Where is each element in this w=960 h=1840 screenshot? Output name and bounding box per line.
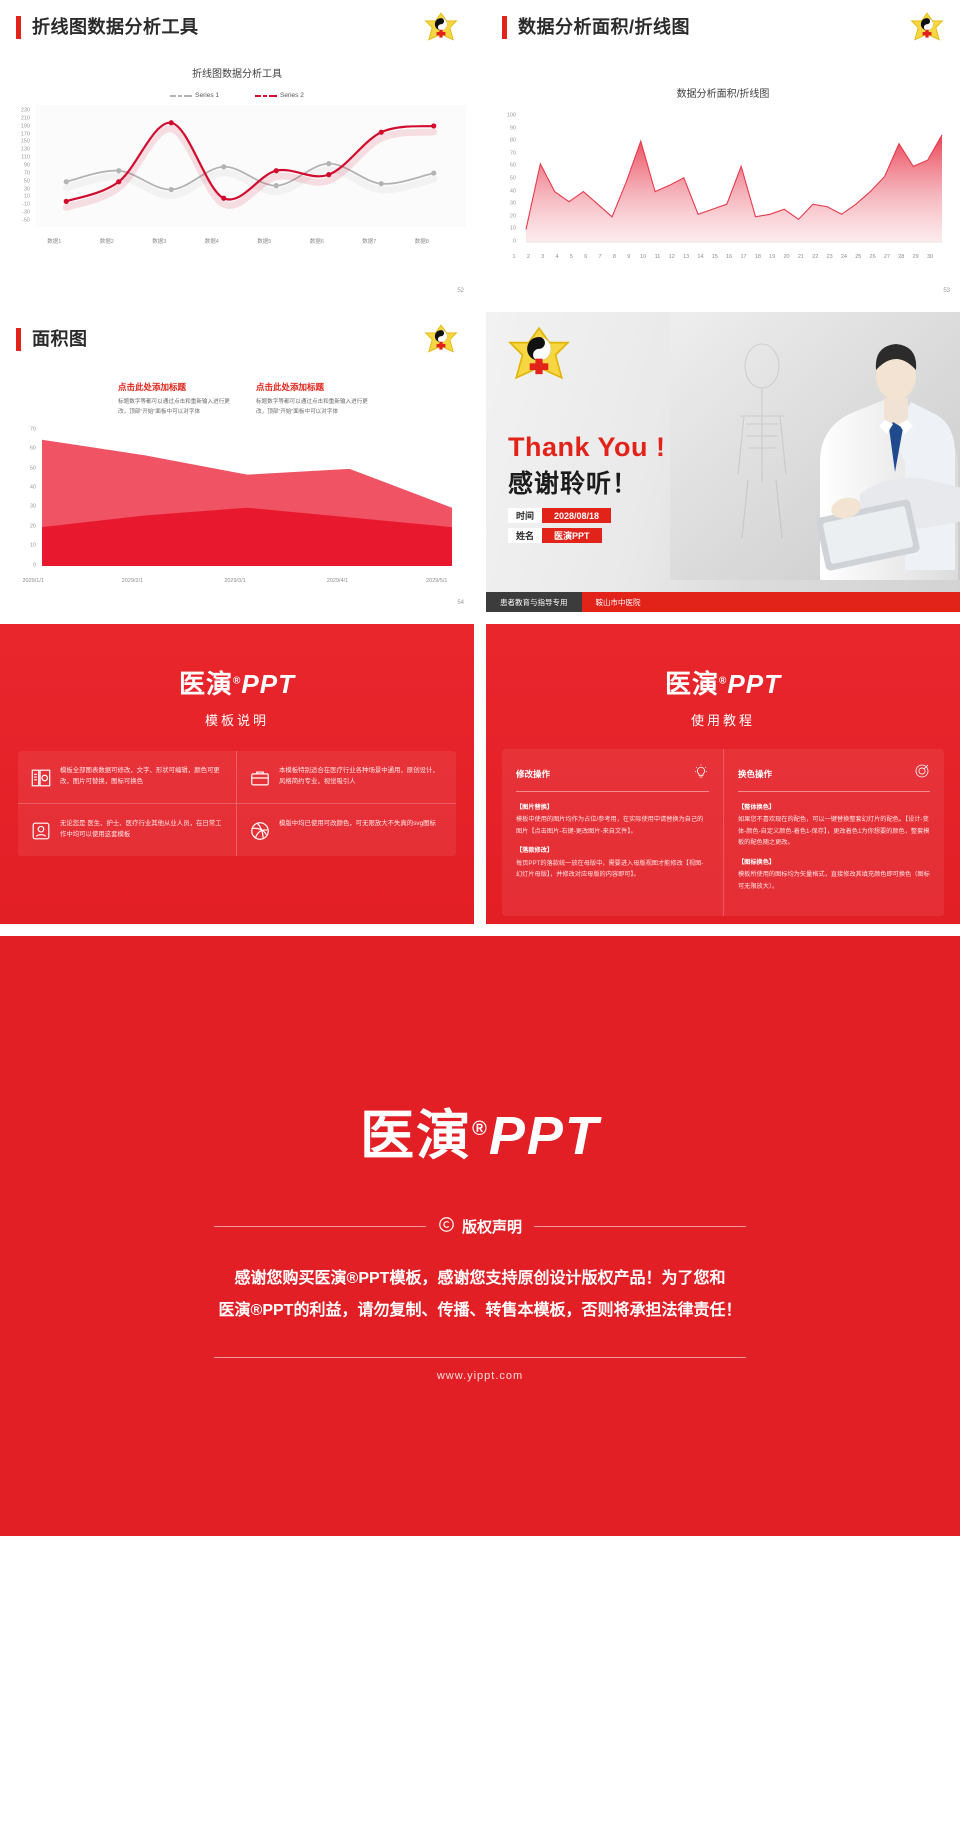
feature-card[interactable]: 模版中均已使用可改颜色，可无限放大不失真的svg图标 [237, 804, 456, 856]
y-tick-label: 50 [30, 466, 36, 472]
slide-template-note[interactable]: 医演®PPT 模板说明 模板全部图表数据可修改，文字、形状可编辑，颜色可更改，图… [0, 624, 474, 924]
slide-stacked-area-chart[interactable]: 面积图 点击此处添加标题 标题数字等 [0, 312, 474, 612]
tutorial-block: 【整体换色】 如果您不喜欢现在的配色，可以一键替换整套幻灯片的配色。【设计-变体… [738, 802, 930, 849]
brand-subtitle: 使用教程 [486, 710, 960, 729]
brand-logo: 医演®PPT [0, 664, 474, 701]
x-tick-label: 2029/4/1 [327, 578, 348, 584]
y-tick-label: 110 [21, 155, 30, 161]
tutorial-block-head: 【落款修改】 [516, 845, 709, 856]
x-tick-label: 数据5 [257, 237, 271, 245]
website-url[interactable]: www.yippt.com [437, 1370, 523, 1382]
x-tick-label: 18 [755, 254, 761, 260]
brand-logo: 医演®PPT [486, 664, 960, 701]
legend-swatch-series-2 [255, 93, 277, 99]
slide-copyright[interactable]: 医演®PPT 版权声明 感谢您购买医演®PPT模板，感谢您支持原创设计版权产品！… [0, 936, 960, 1536]
x-tick-label: 12 [669, 254, 675, 260]
feature-card[interactable]: 无论您是 医生、护士、医疗行业其他从业人员，在日常工作中均可以使用这套模板 [18, 804, 237, 856]
x-tick-label: 15 [712, 254, 718, 260]
area-line-chart-x-axis: 1234567891011121314151617181920212223242… [512, 252, 960, 264]
brand-logo: 医演®PPT [360, 1091, 600, 1170]
x-tick-label: 2029/1/1 [23, 578, 44, 584]
field-name-label: 姓名 [508, 528, 542, 543]
legend-label-series-1: Series 1 [195, 92, 219, 99]
brand-cn: 医演 [360, 1106, 472, 1166]
y-tick-label: 0 [33, 563, 36, 569]
doctor-photo [670, 312, 960, 580]
callout-body: 标题数字等都可以通过点击和重新输入进行更改，顶部“开始”面板中可以对字体 [256, 397, 376, 418]
legend-item-series-1[interactable]: Series 1 [170, 92, 219, 99]
presentation-page: 折线图数据分析工具 折线图数据分析工具 [0, 0, 960, 1536]
x-tick-label: 4 [556, 254, 559, 260]
y-tick-label: 40 [510, 189, 516, 195]
feature-card[interactable]: 模板全部图表数据可修改，文字、形状可编辑，颜色可更改，图片可替换，图标可换色 [18, 751, 237, 804]
dribbble-icon [249, 820, 271, 842]
slide-line-chart[interactable]: 折线图数据分析工具 折线图数据分析工具 [0, 0, 474, 300]
x-tick-label: 6 [584, 254, 587, 260]
tutorial-block-body: 每页PPT的落款统一放在母版中，需要进入母版视图才能修改【视图-幻灯片母版】，并… [516, 860, 703, 878]
brand-cn: 医演 [179, 669, 233, 699]
y-tick-label: 150 [21, 140, 30, 146]
y-tick-label: 190 [21, 124, 30, 130]
divider [516, 791, 709, 792]
y-tick-label: 10 [24, 195, 30, 201]
page-title: 数据分析面积/折线图 [518, 16, 690, 39]
field-time-value: 2028/08/18 [542, 508, 611, 523]
field-name-value: 医演PPT [542, 528, 602, 543]
x-tick-label: 数据4 [205, 237, 219, 245]
callout-group: 点击此处添加标题 标题数字等都可以通过点击和重新输入进行更改，顶部“开始”面板中… [118, 381, 460, 418]
footer-department: 患者教育与指导专用 [486, 592, 582, 612]
tutorial-block: 【图标换色】 模板所使用的图标均为矢量格式，直接修改其填充颜色即可换色（图标可无… [738, 857, 930, 892]
tutorial-block-head: 【图片替换】 [516, 802, 709, 813]
x-tick-label: 26 [870, 254, 876, 260]
x-tick-label: 27 [884, 254, 890, 260]
copyright-body: 感谢您购买医演®PPT模板，感谢您支持原创设计版权产品！为了您和 医演®PPT的… [160, 1263, 800, 1327]
title-accent-bar [16, 328, 21, 351]
chart-book-icon [30, 767, 52, 789]
thank-you-cn: 感谢聆听！ [508, 464, 638, 500]
y-tick-label: 90 [24, 163, 30, 169]
chart-title: 数据分析面积/折线图 [486, 85, 960, 100]
x-tick-label: 21 [798, 254, 804, 260]
y-tick-label: 70 [510, 151, 516, 157]
chart-legend: Series 1 Series 2 [0, 92, 474, 99]
tutorial-column-header: 换色操作 [738, 763, 930, 784]
tutorial-column-recolor[interactable]: 换色操作 【整体换色】 如果您不喜欢现在的配色，可以一键替换整套幻灯片的配色。【… [723, 749, 944, 916]
page-number: 54 [457, 600, 464, 606]
palette-icon [914, 763, 930, 784]
slide-footer: 患者教育与指导专用 鞍山市中医院 [486, 592, 960, 612]
column-gap [474, 312, 486, 612]
tutorial-block: 【落款修改】 每页PPT的落款统一放在母版中，需要进入母版视图才能修改【视图-幻… [516, 845, 709, 880]
y-tick-label: 80 [510, 138, 516, 144]
column-gap [474, 624, 486, 924]
y-tick-label: 210 [21, 116, 30, 122]
line-chart-canvas [36, 105, 466, 227]
y-tick-label: 50 [510, 176, 516, 182]
brand-ppt: PPT [727, 669, 781, 699]
field-time: 时间 2028/08/18 [508, 508, 611, 523]
x-tick-label: 8 [613, 254, 616, 260]
row-gap [0, 300, 960, 312]
y-tick-label: 20 [30, 524, 36, 530]
y-tick-label: 30 [24, 187, 30, 193]
user-badge-icon [30, 820, 52, 842]
page-title: 面积图 [32, 328, 88, 351]
x-tick-label: 3 [541, 254, 544, 260]
x-tick-label: 数据7 [362, 237, 376, 245]
brand-subtitle: 模板说明 [0, 710, 474, 729]
row-gap [0, 924, 960, 936]
x-tick-label: 24 [841, 254, 847, 260]
x-tick-label: 数据8 [415, 237, 429, 245]
stacked-area-x-axis: 2029/1/12029/2/12029/3/12029/4/12029/5/1 [30, 576, 474, 588]
yinyang-star-logo-icon [424, 324, 458, 354]
callout-title: 点击此处添加标题 [118, 381, 238, 393]
x-tick-label: 17 [740, 254, 746, 260]
brand-block: 医演®PPT 使用教程 [486, 624, 960, 729]
x-tick-label: 7 [599, 254, 602, 260]
x-tick-label: 数据6 [310, 237, 324, 245]
tutorial-block-head: 【图标换色】 [738, 857, 930, 868]
stacked-area-canvas [42, 424, 452, 568]
area-line-chart-plot: 1009080706050403020100 [498, 112, 948, 252]
y-tick-label: 90 [510, 126, 516, 132]
feature-card-text: 本模板特别适合在医疗行业各种场景中通用，原创设计，风格简约专业，视觉吸引人 [279, 765, 444, 789]
x-tick-label: 2029/3/1 [224, 578, 245, 584]
slide-header: 折线图数据分析工具 [0, 0, 474, 39]
tutorial-block-body: 模板所使用的图标均为矢量格式，直接修改其填充颜色即可换色（图标可无限放大）。 [738, 871, 930, 889]
slide-thank-you[interactable]: Thank You ! 感谢聆听！ 时间 2028/08/18 姓名 医演PPT… [486, 312, 960, 612]
x-tick-label: 20 [783, 254, 789, 260]
y-tick-label: 10 [510, 227, 516, 233]
x-tick-label: 2029/5/1 [426, 578, 447, 584]
column-gap [474, 0, 486, 300]
x-tick-label: 1 [512, 254, 515, 260]
divider [738, 791, 930, 792]
x-tick-label: 数据1 [47, 237, 61, 245]
y-tick-label: 30 [510, 201, 516, 207]
tutorial-column-title: 修改操作 [516, 768, 550, 780]
feature-card-text: 模板全部图表数据可修改，文字、形状可编辑，颜色可更改，图片可替换，图标可换色 [60, 765, 224, 789]
y-tick-label: -10 [22, 203, 30, 209]
slide-header: 数据分析面积/折线图 [486, 0, 960, 39]
tutorial-block-head: 【整体换色】 [738, 802, 930, 813]
tutorial-block-body: 模板中使用的图片均作为占位/参考用，在实际使用中请替换为自己的图片【点击图片-右… [516, 816, 703, 834]
brand-block: 医演®PPT 模板说明 [0, 624, 474, 729]
y-tick-label: 20 [510, 214, 516, 220]
page-number: 52 [457, 288, 464, 294]
copyright-line-1: 感谢您购买医演®PPT模板，感谢您支持原创设计版权产品！为了您和 [160, 1263, 800, 1295]
y-tick-label: 60 [30, 446, 36, 452]
page-number: 53 [943, 288, 950, 294]
tutorial-column-modify[interactable]: 修改操作 【图片替换】 模板中使用的图片均作为占位/参考用，在实际使用中请替换为… [502, 749, 723, 916]
page-title: 折线图数据分析工具 [32, 16, 199, 39]
divider-bottom [214, 1357, 746, 1358]
copyright-line-2: 医演®PPT的利益，请勿复制、传播、转售本模板，否则将承担法律责任！ [160, 1295, 800, 1327]
y-tick-label: 70 [24, 171, 30, 177]
thank-you-en: Thank You ! [508, 432, 666, 463]
yinyang-star-logo-icon [424, 12, 458, 42]
brand-cn: 医演 [665, 669, 719, 699]
divider-right [534, 1226, 746, 1227]
x-tick-label: 11 [655, 254, 661, 260]
y-tick-label: 40 [30, 485, 36, 491]
tutorial-column-title: 换色操作 [738, 768, 772, 780]
x-tick-label: 数据2 [100, 237, 114, 245]
y-tick-label: 30 [30, 505, 36, 511]
feature-card[interactable]: 本模板特别适合在医疗行业各种场景中通用，原创设计，风格简约专业，视觉吸引人 [237, 751, 456, 804]
x-tick-label: 2 [527, 254, 530, 260]
row-gap [0, 612, 960, 624]
x-tick-label: 19 [769, 254, 775, 260]
x-tick-label: 13 [683, 254, 689, 260]
y-tick-label: 50 [24, 179, 30, 185]
field-name: 姓名 医演PPT [508, 528, 602, 543]
x-tick-label: 14 [697, 254, 703, 260]
area-line-chart-canvas [524, 112, 944, 244]
slide-row-3: 医演®PPT 模板说明 模板全部图表数据可修改，文字、形状可编辑，颜色可更改，图… [0, 624, 960, 924]
brand-ppt: PPT [241, 669, 295, 699]
line-chart-plot: 2302101901701501301109070503010-10-30-50 [12, 105, 462, 235]
x-tick-label: 10 [640, 254, 646, 260]
x-tick-label: 16 [726, 254, 732, 260]
yinyang-star-logo-icon [508, 326, 570, 382]
tutorial-block-body: 如果您不喜欢现在的配色，可以一键替换整套幻灯片的配色。【设计-变体-颜色-自定义… [738, 816, 929, 846]
stacked-area-plot: 706050403020100 [12, 424, 462, 576]
y-tick-label: 70 [30, 427, 36, 433]
y-tick-label: 170 [21, 132, 30, 138]
slide-header: 面积图 [0, 312, 474, 351]
legend-label-series-2: Series 2 [280, 92, 304, 99]
yinyang-star-logo-icon [910, 12, 944, 42]
copyright-icon [438, 1216, 455, 1237]
callout-body: 标题数字等都可以通过点击和重新输入进行更改，顶部“开始”面板中可以对字体 [118, 397, 238, 418]
title-accent-bar [502, 16, 507, 39]
x-tick-label: 5 [570, 254, 573, 260]
legend-swatch-series-1 [170, 93, 192, 99]
y-tick-label: -30 [22, 210, 30, 216]
tutorial-grid: 修改操作 【图片替换】 模板中使用的图片均作为占位/参考用，在实际使用中请替换为… [502, 749, 944, 916]
feature-card-text: 无论您是 医生、护士、医疗行业其他从业人员，在日常工作中均可以使用这套模板 [60, 818, 224, 842]
feature-card-text: 模版中均已使用可改颜色，可无限放大不失真的svg图标 [279, 818, 436, 842]
lightbulb-icon [693, 763, 709, 784]
y-tick-label: 130 [21, 148, 30, 154]
x-tick-label: 9 [627, 254, 630, 260]
x-tick-label: 23 [827, 254, 833, 260]
legend-item-series-2[interactable]: Series 2 [255, 92, 304, 99]
briefcase-icon [249, 767, 271, 789]
field-time-label: 时间 [508, 508, 542, 523]
x-tick-label: 数据3 [152, 237, 166, 245]
y-tick-label: -50 [22, 218, 30, 224]
y-tick-label: 230 [21, 108, 30, 114]
x-tick-label: 2029/2/1 [122, 578, 143, 584]
copyright-divider-row: 版权声明 [214, 1216, 746, 1237]
x-tick-label: 25 [855, 254, 861, 260]
footer-hospital: 鞍山市中医院 [582, 592, 960, 612]
copyright-badge-label: 版权声明 [462, 1216, 522, 1237]
tutorial-block: 【图片替换】 模板中使用的图片均作为占位/参考用，在实际使用中请替换为自己的图片… [516, 802, 709, 837]
x-tick-label: 22 [812, 254, 818, 260]
x-tick-label: 30 [927, 254, 933, 260]
feature-card-grid: 模板全部图表数据可修改，文字、形状可编辑，颜色可更改，图片可替换，图标可换色 本… [18, 751, 456, 856]
brand-registered: ® [472, 1118, 489, 1140]
callout-1: 点击此处添加标题 标题数字等都可以通过点击和重新输入进行更改，顶部“开始”面板中… [118, 381, 238, 418]
slide-row-1: 折线图数据分析工具 折线图数据分析工具 [0, 0, 960, 300]
tutorial-column-header: 修改操作 [516, 763, 709, 784]
x-tick-label: 28 [898, 254, 904, 260]
y-tick-label: 0 [513, 239, 516, 245]
y-tick-label: 60 [510, 164, 516, 170]
callout-2: 点击此处添加标题 标题数字等都可以通过点击和重新输入进行更改，顶部“开始”面板中… [256, 381, 376, 418]
brand-ppt: PPT [489, 1106, 600, 1166]
slide-row-2: 面积图 点击此处添加标题 标题数字等 [0, 312, 960, 612]
line-chart-x-axis: 数据1数据2数据3数据4数据5数据6数据7数据8 [24, 235, 474, 247]
x-tick-label: 29 [913, 254, 919, 260]
title-accent-bar [16, 16, 21, 39]
chart-title: 折线图数据分析工具 [0, 65, 474, 80]
copyright-badge: 版权声明 [438, 1216, 522, 1237]
slide-usage-tutorial[interactable]: 医演®PPT 使用教程 修改操作 [486, 624, 960, 924]
divider-left [214, 1226, 426, 1227]
slide-area-line-chart[interactable]: 数据分析面积/折线图 数据分析面积/折线图 10090807060504030 [486, 0, 960, 300]
y-tick-label: 100 [507, 113, 516, 119]
callout-title: 点击此处添加标题 [256, 381, 376, 393]
y-tick-label: 10 [30, 544, 36, 550]
